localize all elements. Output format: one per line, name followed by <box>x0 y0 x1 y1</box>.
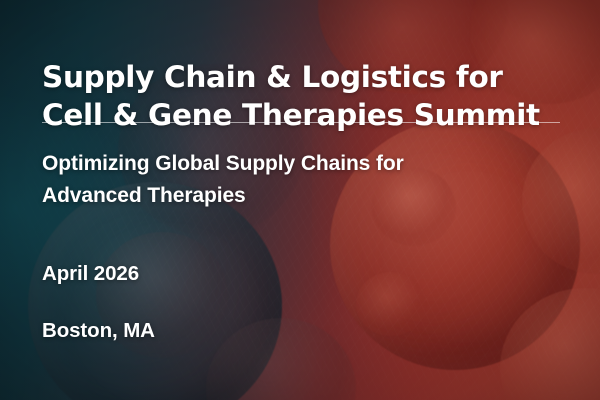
banner-content: Supply Chain & Logistics for Cell & Gene… <box>0 0 600 400</box>
event-subtitle: Optimizing Global Supply Chains for Adva… <box>42 148 568 212</box>
event-banner: Supply Chain & Logistics for Cell & Gene… <box>0 0 600 400</box>
event-subtitle-line-1: Optimizing Global Supply Chains for <box>42 148 568 180</box>
event-title-line-1: Supply Chain & Logistics for <box>42 58 568 96</box>
event-subtitle-line-2: Advanced Therapies <box>42 180 568 212</box>
title-divider <box>42 122 560 123</box>
event-title-line-2: Cell & Gene Therapies Summit <box>42 96 568 134</box>
event-location: Boston, MA <box>42 319 155 343</box>
event-date: April 2026 <box>42 262 139 286</box>
